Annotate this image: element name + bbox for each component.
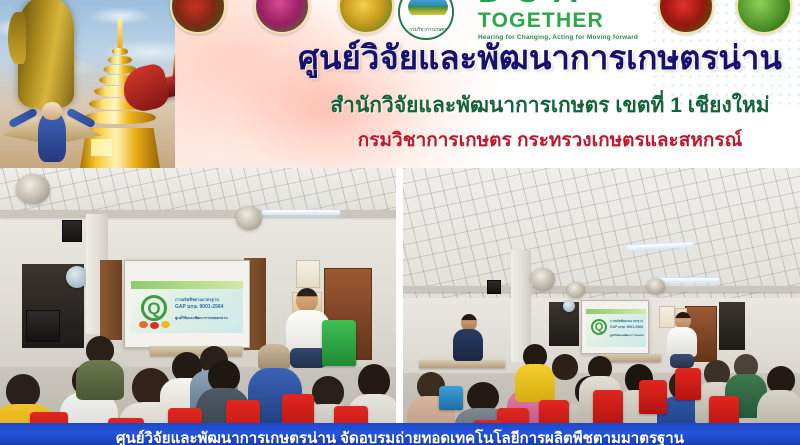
wall-fan-icon xyxy=(531,268,555,290)
banner-subtitle: สำนักวิจัยและพัฒนาการเกษตร เขตที่ 1 เชีย… xyxy=(300,94,800,118)
wall-fan-icon xyxy=(236,206,262,230)
doa-together-text: TOGETHER xyxy=(478,10,698,31)
presenter-person xyxy=(665,312,699,368)
projector-screen: Q การผลิตพืชตามมาตรฐาน GAP มกษ. 9001-256… xyxy=(581,300,649,354)
ceiling xyxy=(0,168,396,214)
fluorescent-tube-light xyxy=(262,210,340,215)
audience-head xyxy=(358,364,390,398)
garuda-head xyxy=(42,102,62,120)
emblem-label: กรมวิชาการเกษตร xyxy=(400,26,454,34)
audience-person xyxy=(76,336,124,396)
presenter-trousers xyxy=(670,354,694,368)
wall-clock-icon xyxy=(66,266,88,288)
oval-photo-coffee-cherries xyxy=(170,0,226,34)
doa-wordmark: DOA xyxy=(478,0,698,8)
slide-header-stripe xyxy=(586,309,646,314)
bottom-caption-text: ศูนย์วิจัยและพัฒนาการเกษตรน่าน จัดอบรมถ่… xyxy=(0,431,800,445)
blue-chair xyxy=(439,386,463,410)
bottom-caption-bar: ศูนย์วิจัยและพัฒนาการเกษตรน่าน จัดอบรมถ่… xyxy=(0,423,800,445)
audience-head-with-hat xyxy=(258,344,290,370)
projector-screen: Q การผลิตพืชตามมาตรฐาน GAP มกษ. 9001-256… xyxy=(124,260,250,348)
room-scene: Q การผลิตพืชตามมาตรฐาน GAP มกษ. 9001-256… xyxy=(403,168,800,445)
staff-shirt xyxy=(453,329,483,361)
fluorescent-tube-light xyxy=(655,278,719,283)
garuda-statue xyxy=(6,80,98,166)
poster-page: กรมวิชาการเกษตร DOA TOGETHER Hearing for… xyxy=(0,0,800,445)
right-doorway xyxy=(719,302,745,350)
slide-fruit-dot xyxy=(139,321,148,328)
slide-line-1: การผลิตพืชตามมาตรฐาน xyxy=(175,296,239,303)
chedi-spire xyxy=(118,18,123,52)
wall-fan-icon xyxy=(567,282,585,298)
slide-line-2: GAP มกษ. 9001-2564 xyxy=(610,325,644,330)
doa-together-logo: DOA TOGETHER Hearing for Changing, Actin… xyxy=(478,0,698,41)
photo-training-room-speaker: Q การผลิตพืชตามมาตรฐาน GAP มกษ. 9001-256… xyxy=(0,168,396,445)
photo-training-room-wide: Q การผลิตพืชตามมาตรฐาน GAP มกษ. 9001-256… xyxy=(403,168,800,445)
wall-fan-icon xyxy=(647,278,665,294)
oval-photo-longan-fruit xyxy=(338,0,394,34)
presenter-shirt xyxy=(667,327,697,357)
wall-clock-icon xyxy=(563,300,575,312)
slide-line-3: ศูนย์วิจัยและพัฒนาการเกษตรน่าน xyxy=(610,334,644,338)
ceiling xyxy=(403,168,800,298)
presentation-slide: Q การผลิตพืชตามมาตรฐาน GAP มกษ. 9001-256… xyxy=(586,309,646,347)
red-chair xyxy=(639,380,667,414)
slide-header-stripe xyxy=(131,281,243,289)
wall-poster xyxy=(296,260,320,288)
red-chair xyxy=(593,390,623,424)
slide-line-3: ศูนย์วิจัยและพัฒนาการเกษตรน่าน xyxy=(175,315,239,321)
header-banner: กรมวิชาการเกษตร DOA TOGETHER Hearing for… xyxy=(0,0,800,168)
ceiling-speaker xyxy=(487,280,501,294)
wall-fan-icon xyxy=(16,174,50,204)
ceiling-speaker xyxy=(62,220,82,242)
ceiling-beam xyxy=(403,286,800,292)
staff-person xyxy=(451,314,485,370)
audience-camo-shirt xyxy=(76,360,124,400)
banner-department: กรมวิชาการเกษตร กระทรวงเกษตรและสหกรณ์ xyxy=(300,130,800,152)
room-scene: Q การผลิตพืชตามมาตรฐาน GAP มกษ. 9001-256… xyxy=(0,168,396,445)
oval-photo-green-leaves xyxy=(736,0,792,34)
slide-line-1: การผลิตพืชตามมาตรฐาน xyxy=(610,319,644,324)
q-gap-logo: Q xyxy=(141,295,167,321)
q-gap-logo: Q xyxy=(591,319,607,335)
photo-row: Q การผลิตพืชตามมาตรฐาน GAP มกษ. 9001-256… xyxy=(0,168,800,445)
red-chair xyxy=(675,368,701,400)
banner-title: ศูนย์วิจัยและพัฒนาการเกษตรน่าน xyxy=(280,40,800,76)
wood-pillar xyxy=(100,260,122,340)
audience-head xyxy=(6,374,40,408)
slide-line-2: GAP มกษ. 9001-2564 xyxy=(175,303,239,311)
temple-photo xyxy=(0,0,175,168)
slide-fruit-dot xyxy=(150,322,159,329)
presentation-slide: Q การผลิตพืชตามมาตรฐาน GAP มกษ. 9001-256… xyxy=(131,281,243,333)
pa-speaker xyxy=(26,310,60,342)
presenter-head xyxy=(296,288,318,312)
oval-photo-dragon-fruit xyxy=(254,0,310,34)
slide-fruit-dot xyxy=(161,321,170,328)
green-chair xyxy=(322,320,356,366)
